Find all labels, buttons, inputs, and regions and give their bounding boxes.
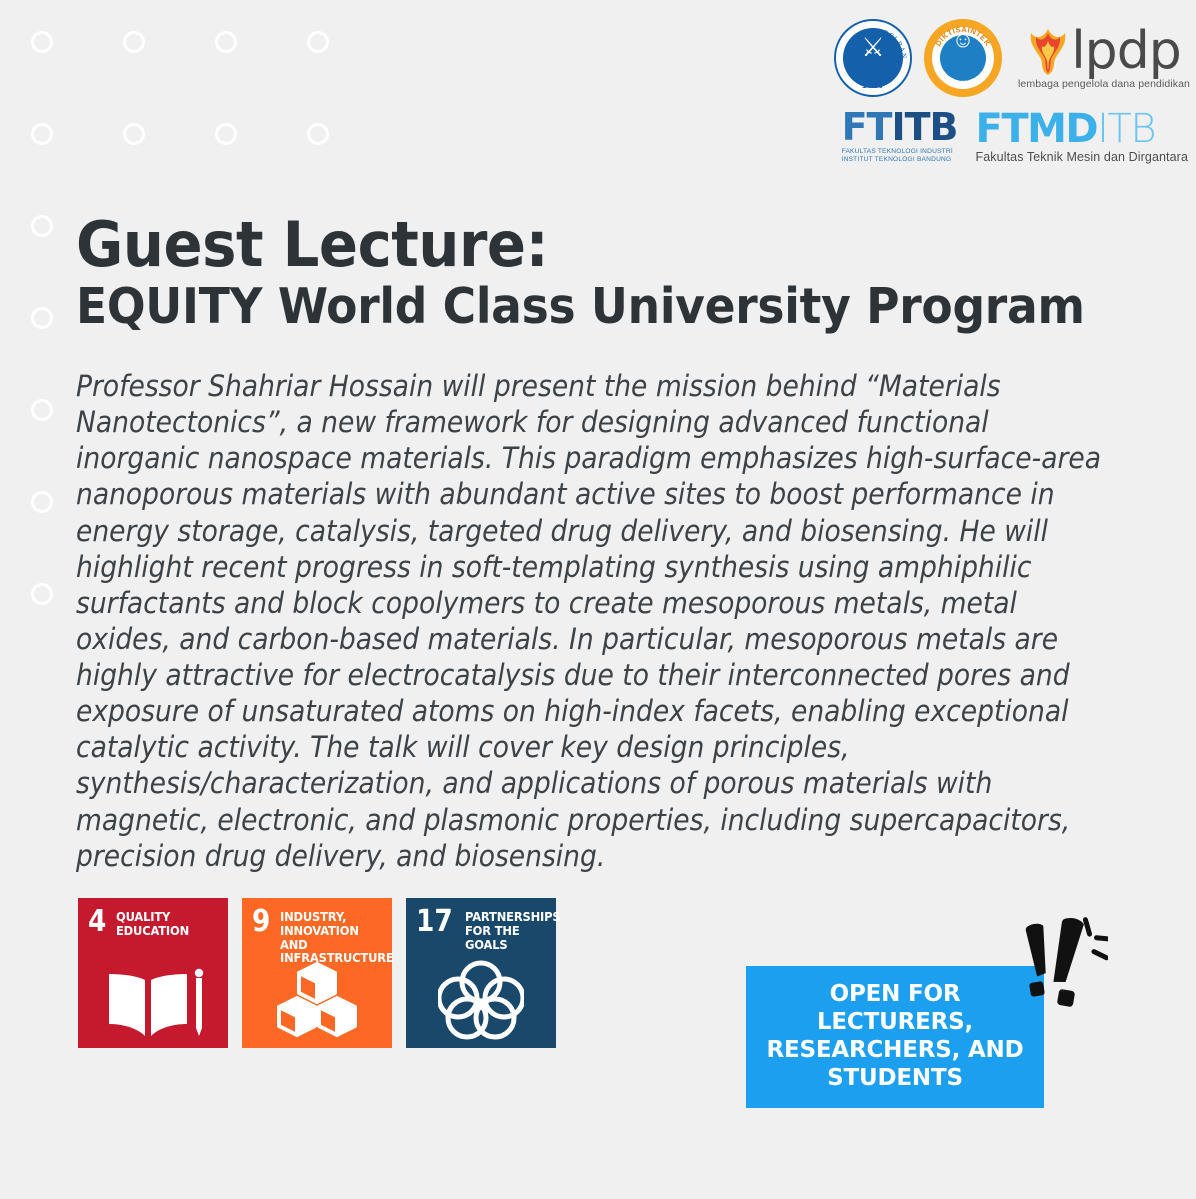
poster-canvas: ⚔ INSTITUT TEKNOLOGI BANDUNG 1920 ☺ DI: [0, 0, 1196, 1199]
decorative-ring: [31, 123, 53, 145]
diktisaintek-arc-text-icon: DIKTISAINTEK BERDAMPAK: [924, 19, 1002, 97]
decorative-ring: [123, 123, 145, 145]
decorative-ring: [123, 31, 145, 53]
decorative-ring: [31, 399, 53, 421]
sdg-4-number: 4: [88, 908, 106, 936]
sdg-badge-17: 17 PARTNERSHIPS FOR THE GOALS: [406, 898, 556, 1048]
decorative-ring: [31, 215, 53, 237]
ftmd-itb-subtitle: Fakultas Teknik Mesin dan Dirgantara: [976, 150, 1189, 164]
decorative-ring: [215, 123, 237, 145]
interlocking-circles-icon: [438, 958, 524, 1040]
title-line-1: Guest Lecture:: [76, 214, 1085, 276]
lpdp-tagline: lembaga pengelola dana pendidikan: [1018, 78, 1190, 90]
sdg-badge-9: 9 INDUSTRY, INNOVATION AND INFRASTRUCTUR…: [242, 898, 392, 1048]
fti-wordmark-tb: TB: [905, 105, 958, 149]
open-book-and-pencil-icon: [101, 966, 205, 1040]
sdg-badge-4: 4 QUALITY EDUCATION: [78, 898, 228, 1048]
sdg-4-art: [78, 966, 228, 1040]
decorative-ring: [31, 583, 53, 605]
sdg-4-label: QUALITY EDUCATION: [116, 908, 189, 938]
sdg-17-header: 17 PARTNERSHIPS FOR THE GOALS: [406, 898, 556, 951]
decorative-ring: [307, 31, 329, 53]
fti-subtitle-line1: FAKULTAS TEKNOLOGI INDUSTRI: [842, 148, 953, 156]
sdg-9-label: INDUSTRY, INNOVATION AND INFRASTRUCTURE: [280, 908, 394, 965]
fti-wordmark-ft: FT: [842, 105, 892, 149]
sdg-9-art: [242, 960, 392, 1040]
cta-banner[interactable]: OPEN FOR LECTURERS, RESEARCHERS, AND STU…: [746, 966, 1044, 1108]
sdg-17-label: PARTNERSHIPS FOR THE GOALS: [465, 908, 560, 951]
logo-row-primary: ⚔ INSTITUT TEKNOLOGI BANDUNG 1920 ☺ DI: [834, 14, 1190, 102]
fti-itb-logo: FTITB FAKULTAS TEKNOLOGI INDUSTRI INSTIT…: [842, 108, 958, 164]
fti-subtitle-line2: INSTITUT TEKNOLOGI BANDUNG: [842, 156, 953, 164]
logo-bar: ⚔ INSTITUT TEKNOLOGI BANDUNG 1920 ☺ DI: [834, 14, 1190, 164]
sdg-9-header: 9 INDUSTRY, INNOVATION AND INFRASTRUCTUR…: [242, 898, 392, 965]
abstract-paragraph: Professor Shahriar Hossain will present …: [76, 368, 1120, 874]
fti-itb-wordmark: FTITB: [842, 108, 958, 146]
lpdp-logo: lpdp lembaga pengelola dana pendidikan: [1014, 27, 1190, 90]
decorative-ring: [31, 31, 53, 53]
lpdp-wordmark-row: lpdp: [1027, 27, 1180, 77]
page-title: Guest Lecture: EQUITY World Class Univer…: [76, 214, 1161, 335]
svg-text:BERDAMPAK: BERDAMPAK: [939, 70, 987, 88]
itb-year-label: 1920: [836, 81, 910, 90]
double-exclamation-burst-icon: [1012, 912, 1108, 1020]
ftmd-wordmark-bold: FTMD: [976, 106, 1098, 152]
lpdp-flame-icon: [1027, 27, 1069, 77]
cta-container: OPEN FOR LECTURERS, RESEARCHERS, AND STU…: [746, 966, 1044, 1108]
sdg-4-header: 4 QUALITY EDUCATION: [78, 898, 228, 938]
ftmd-itb-wordmark: FTMDITB: [976, 109, 1156, 149]
svg-text:DIKTISAINTEK: DIKTISAINTEK: [933, 25, 992, 48]
logo-row-secondary: FTITB FAKULTAS TEKNOLOGI INDUSTRI INSTIT…: [842, 108, 1190, 164]
sdg-17-art: [406, 958, 556, 1040]
decorative-ring: [31, 307, 53, 329]
sdg-17-number: 17: [416, 908, 453, 936]
title-line-2: EQUITY World Class University Program: [76, 280, 1085, 335]
decorative-ring: [215, 31, 237, 53]
sdg-badge-row: 4 QUALITY EDUCATION 9 INDUSTRY, INNOVATI…: [78, 898, 556, 1048]
svg-text:INSTITUT TEKNOLOGI BANDUNG: INSTITUT TEKNOLOGI BANDUNG: [836, 21, 908, 61]
itb-seal-logo: ⚔ INSTITUT TEKNOLOGI BANDUNG 1920: [834, 19, 912, 97]
lpdp-wordmark: lpdp: [1071, 27, 1180, 76]
ftmd-itb-logo: FTMDITB Fakultas Teknik Mesin dan Dirgan…: [976, 109, 1189, 164]
diktisaintek-logo: ☺ DIKTISAINTEK BERDAMPAK: [924, 19, 1002, 97]
fti-itb-subtitle: FAKULTAS TEKNOLOGI INDUSTRI INSTITUT TEK…: [842, 148, 953, 164]
stacked-cubes-icon: [267, 960, 367, 1040]
ftmd-wordmark-light: ITB: [1097, 106, 1155, 152]
decorative-ring: [307, 123, 329, 145]
fti-wordmark-i: I: [891, 105, 904, 149]
sdg-9-number: 9: [252, 908, 270, 936]
decorative-ring: [31, 491, 53, 513]
